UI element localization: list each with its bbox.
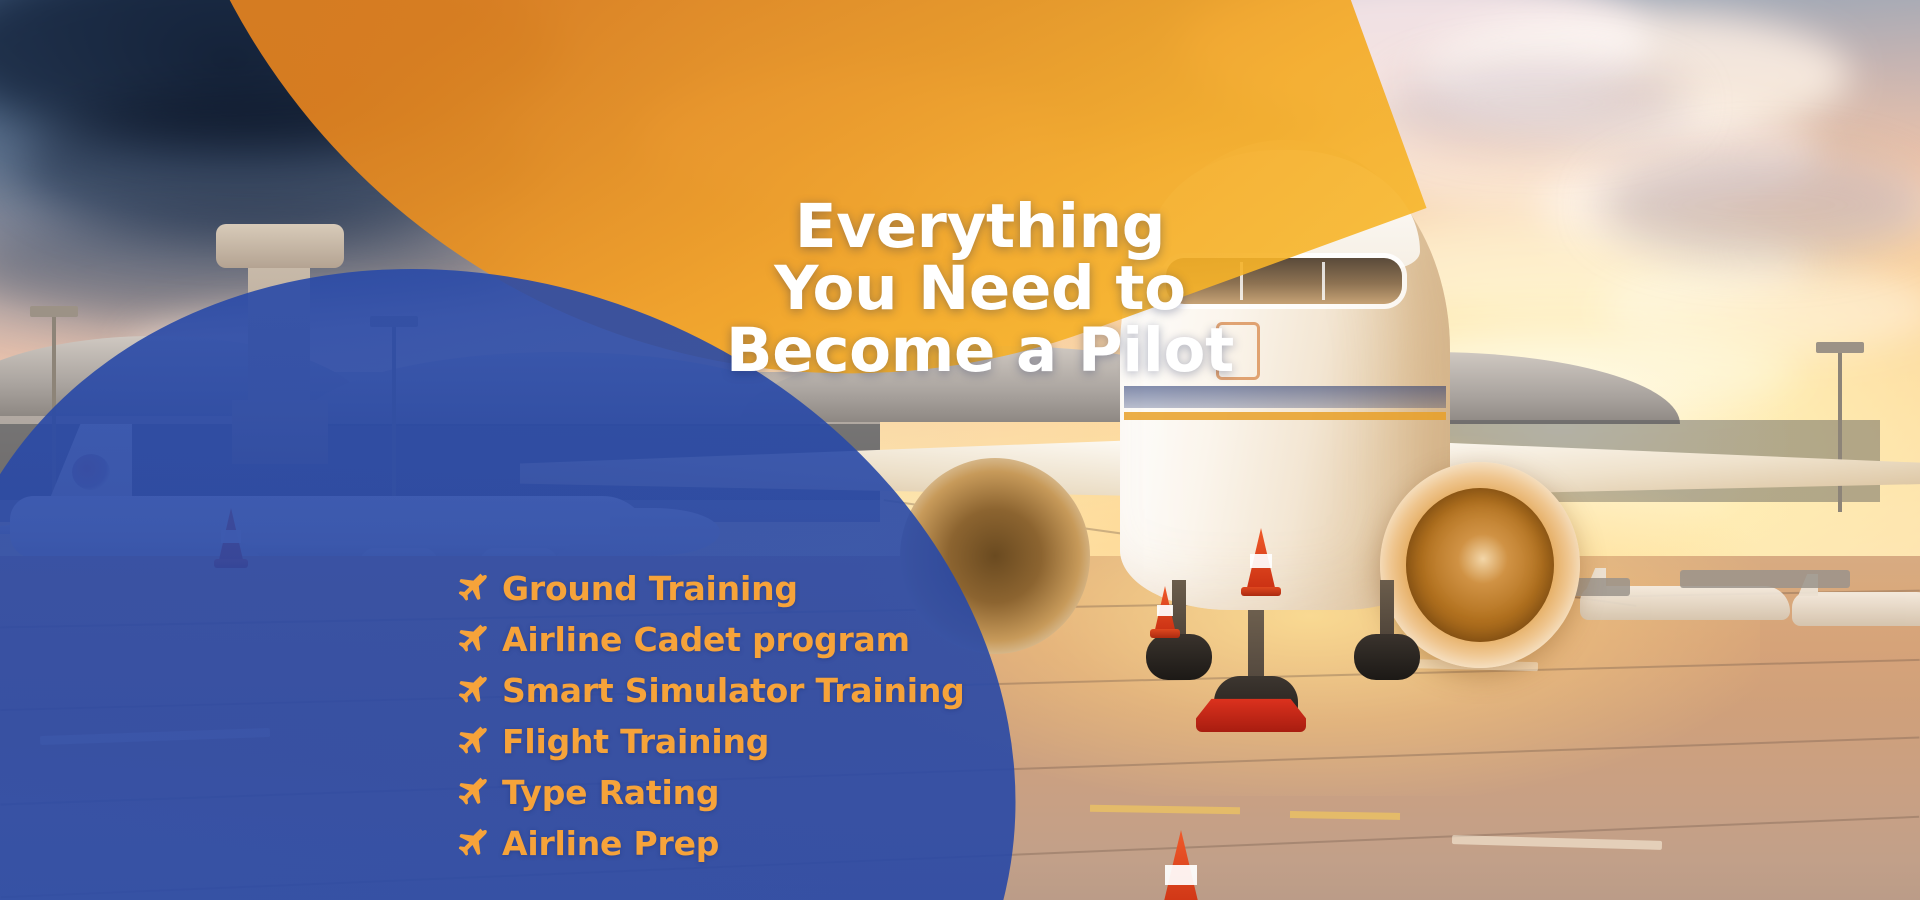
airplane-icon <box>452 828 488 858</box>
page-title: Everything You Need to Become a Pilot <box>600 196 1360 383</box>
list-item-label: Airline Cadet program <box>502 620 910 659</box>
pilot-training-banner: Everything You Need to Become a Pilot Gr… <box>0 0 1920 900</box>
headline-line-2: You Need to <box>600 258 1360 320</box>
feature-list: Ground Training Airline Cadet program Sm… <box>452 566 965 872</box>
list-item[interactable]: Flight Training <box>452 719 965 763</box>
airplane-icon <box>452 573 488 603</box>
airplane-icon <box>452 726 488 756</box>
list-item[interactable]: Ground Training <box>452 566 965 610</box>
list-item[interactable]: Smart Simulator Training <box>452 668 965 712</box>
list-item-label: Type Rating <box>502 773 719 812</box>
list-item[interactable]: Airline Cadet program <box>452 617 965 661</box>
list-item-label: Flight Training <box>502 722 769 761</box>
airplane-icon <box>452 777 488 807</box>
headline-line-3: Become a Pilot <box>600 320 1360 382</box>
airplane-icon <box>452 624 488 654</box>
airplane-icon <box>452 675 488 705</box>
headline-line-1: Everything <box>600 196 1360 258</box>
list-item-label: Airline Prep <box>502 824 719 863</box>
list-item[interactable]: Type Rating <box>452 770 965 814</box>
list-item[interactable]: Airline Prep <box>452 821 965 865</box>
list-item-label: Ground Training <box>502 569 798 608</box>
list-item-label: Smart Simulator Training <box>502 671 965 710</box>
